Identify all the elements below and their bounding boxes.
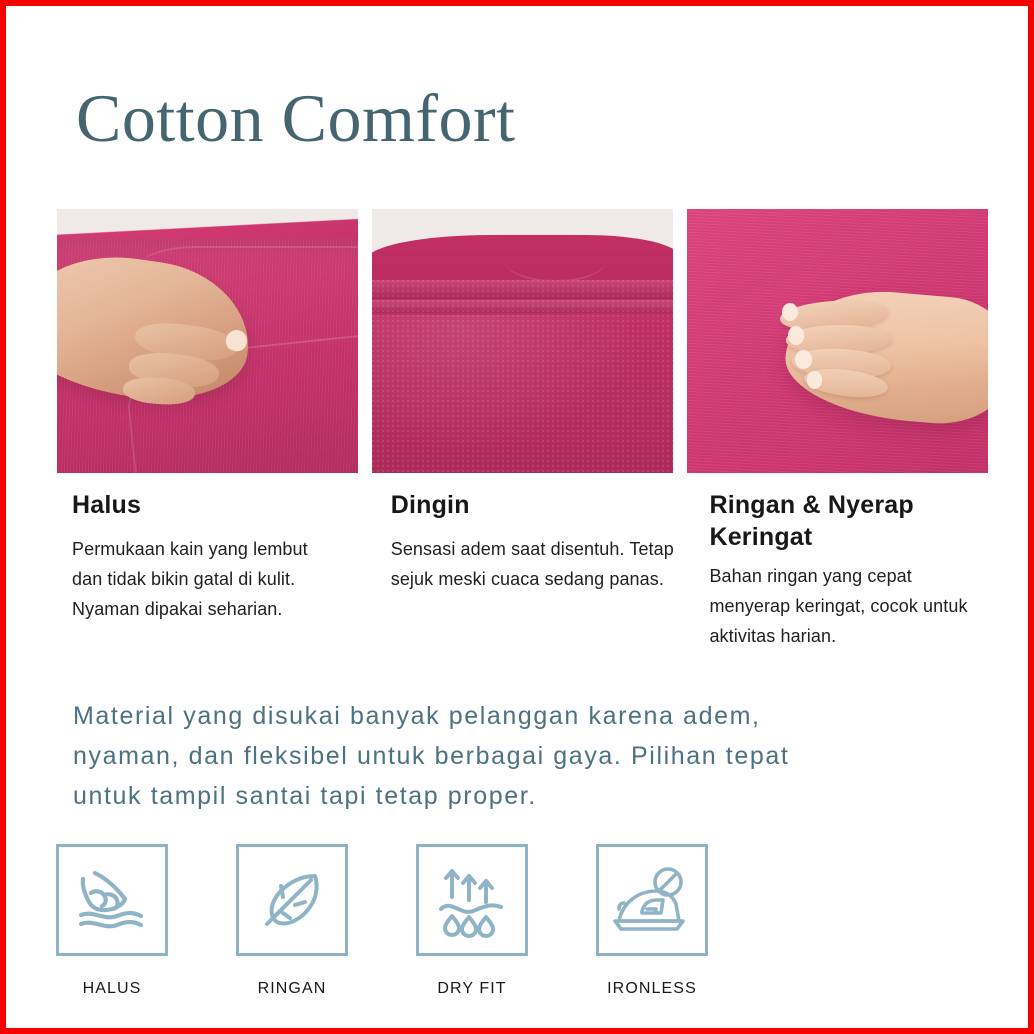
feature-description: Permukaan kain yang lembut dan tidak bik… [72, 534, 312, 624]
badge-ironless: IRONLESS [596, 844, 776, 998]
badge-dry-fit: DRY FIT [416, 844, 596, 998]
badge-icon-box [416, 844, 528, 956]
photo3-fingernail [807, 371, 822, 388]
badge-halus: HALUS [56, 844, 236, 998]
badge-ringan: RINGAN [236, 844, 416, 998]
badge-label: HALUS [56, 980, 168, 998]
badge-icon-box [596, 844, 708, 956]
feature-description: Sensasi adem saat disentuh. Tetap sejuk … [391, 534, 681, 594]
feature-title: Dingin [391, 489, 693, 521]
poster-canvas: Cotton Comfort [6, 6, 1028, 1028]
badge-row: HALUS RINGAN [56, 844, 956, 998]
photo2-fold [372, 300, 673, 313]
feather-icon [251, 859, 333, 941]
feature-title: Halus [72, 489, 374, 521]
photo-hand-pressing-fabric [57, 209, 358, 473]
no-iron-icon [611, 859, 693, 941]
badge-label: DRY FIT [416, 980, 528, 998]
feature-description: Bahan ringan yang cepat menyerap keringa… [709, 561, 979, 651]
photo-gallery [57, 209, 989, 473]
highlight-line-3: untuk tampil santai tapi tetap proper. [73, 776, 981, 816]
highlight-line-2: nyaman, dan fleksibel untuk berbagai gay… [73, 736, 981, 776]
feature-list: Halus Permukaan kain yang lembut dan tid… [70, 489, 990, 651]
photo2-collar [504, 238, 606, 282]
feature-item-ringan-nyerap-keringat: Ringan & Nyerap Keringat Bahan ringan ya… [692, 489, 990, 651]
photo-folded-fabric [372, 209, 673, 473]
badge-icon-box [236, 844, 348, 956]
badge-label: RINGAN [236, 980, 348, 998]
feature-item-dingin: Dingin Sensasi adem saat disentuh. Tetap… [374, 489, 693, 651]
page-title: Cotton Comfort [76, 79, 516, 157]
photo2-sheen [372, 315, 673, 473]
photo-hand-on-fabric [687, 209, 988, 473]
poster-frame: Cotton Comfort [0, 0, 1034, 1034]
moisture-wicking-icon [431, 859, 513, 941]
badge-icon-box [56, 844, 168, 956]
badge-label: IRONLESS [596, 980, 708, 998]
photo2-fold [372, 280, 673, 298]
photo3-fingernail [795, 350, 812, 368]
feature-title: Ringan & Nyerap Keringat [709, 489, 990, 553]
hand-on-fabric-icon [71, 859, 153, 941]
highlight-line-1: Material yang disukai banyak pelanggan k… [73, 696, 981, 736]
feature-item-halus: Halus Permukaan kain yang lembut dan tid… [70, 489, 374, 651]
highlight-paragraph: Material yang disukai banyak pelanggan k… [73, 696, 981, 816]
